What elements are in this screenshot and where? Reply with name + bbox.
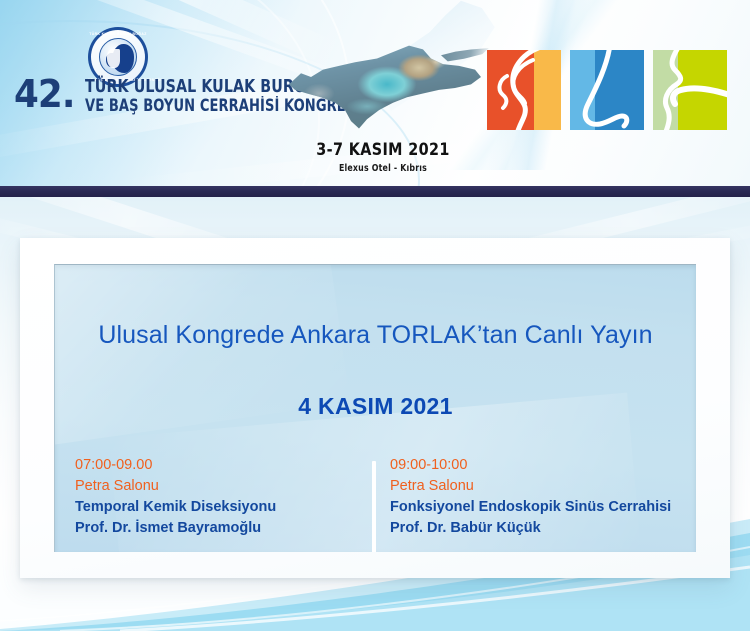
throat-icon: [653, 50, 727, 130]
ear-icon: [487, 50, 561, 130]
session-item: 09:00-10:00 Petra Salonu Fonksiyonel End…: [390, 455, 680, 539]
poster-header: TÜRK KULAK BURUN BOĞAZ VE BAŞ BOYUN CERR…: [0, 0, 750, 186]
emblem-arc-text-top: TÜRK KULAK BURUN BOĞAZ: [88, 32, 148, 36]
congress-venue: Elexus Otel - Kıbrıs: [291, 163, 475, 174]
session-speaker: Prof. Dr. Babür Küçük: [390, 518, 680, 539]
ent-icon-panels: [487, 50, 727, 130]
congress-edition-number: 42.: [14, 74, 74, 114]
session-room: Petra Salonu: [390, 476, 680, 497]
session-title: Fonksiyonel Endoskopik Sinüs Cerrahisi: [390, 497, 680, 518]
emblem-inner-disc: [99, 38, 137, 76]
cyprus-island-image: [283, 42, 483, 134]
session-list: 07:00-09.00 Petra Salonu Temporal Kemik …: [55, 455, 696, 552]
session-title: Temporal Kemik Diseksiyonu: [75, 497, 365, 518]
congress-announcement-poster: TÜRK KULAK BURUN BOĞAZ VE BAŞ BOYUN CERR…: [0, 0, 750, 631]
session-item: 07:00-09.00 Petra Salonu Temporal Kemik …: [75, 455, 365, 539]
session-time: 09:00-10:00: [390, 455, 680, 476]
emblem-face-profile-icon: [107, 49, 120, 68]
island-karpas-peninsula: [441, 48, 489, 66]
session-speaker: Prof. Dr. İsmet Bayramoğlu: [75, 518, 365, 539]
announcement-frame: Ulusal Kongrede Ankara TORLAK’tan Canlı …: [20, 238, 730, 578]
header-navy-rule: [0, 186, 750, 197]
announcement-panel: Ulusal Kongrede Ankara TORLAK’tan Canlı …: [54, 264, 696, 552]
event-date: 4 KASIM 2021: [55, 393, 696, 420]
session-divider: [372, 461, 376, 552]
nose-icon: [570, 50, 644, 130]
session-time: 07:00-09.00: [75, 455, 365, 476]
session-room: Petra Salonu: [75, 476, 365, 497]
event-title: Ulusal Kongrede Ankara TORLAK’tan Canlı …: [55, 321, 696, 350]
congress-dates: 3-7 KASIM 2021: [289, 140, 477, 160]
